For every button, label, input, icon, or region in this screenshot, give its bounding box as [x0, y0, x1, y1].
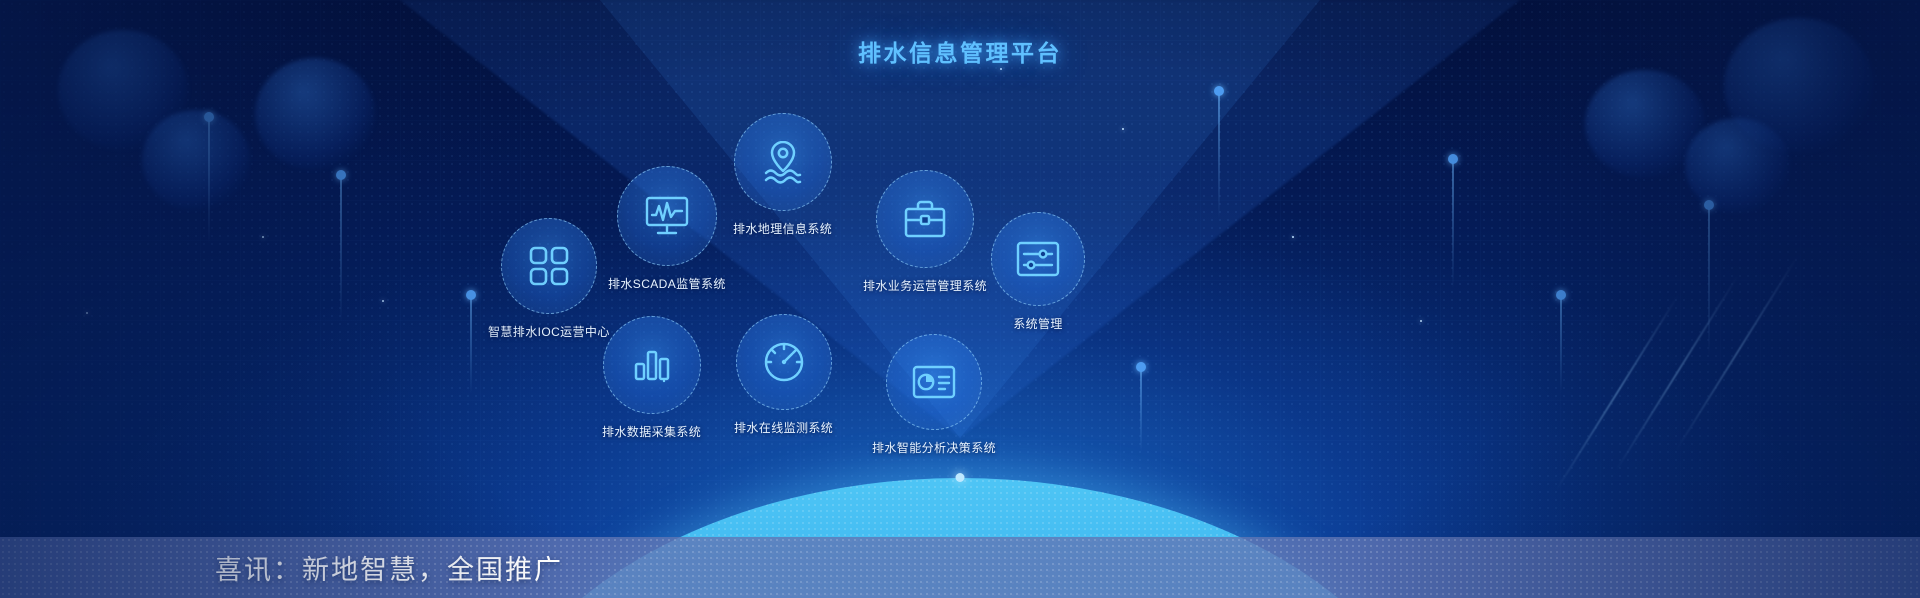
node-bubble[interactable]	[603, 316, 701, 414]
node-bubble[interactable]	[501, 218, 597, 314]
node-label: 系统管理	[1013, 315, 1063, 332]
node-online[interactable]: 排水在线监测系统	[734, 314, 833, 436]
node-bubble[interactable]	[886, 334, 982, 430]
node-ioc[interactable]: 智慧排水IOC运营中心	[488, 218, 610, 340]
node-label: 智慧排水IOC运营中心	[488, 323, 610, 340]
briefcase-icon	[902, 198, 948, 240]
node-bubble[interactable]	[991, 212, 1085, 306]
node-sys[interactable]: 系统管理	[991, 212, 1085, 332]
node-bubble[interactable]	[734, 113, 832, 211]
node-scada[interactable]: 排水SCADA监管系统	[608, 166, 726, 292]
node-data[interactable]: 排水数据采集系统	[602, 316, 701, 440]
map-pin-waves-icon	[762, 139, 804, 185]
node-bubble[interactable]	[736, 314, 832, 410]
node-bubble[interactable]	[876, 170, 974, 268]
news-banner[interactable]: 喜讯：新地智慧，全国推广	[0, 537, 1920, 598]
node-label: 排水SCADA监管系统	[608, 275, 726, 292]
node-biz[interactable]: 排水业务运营管理系统	[863, 170, 987, 294]
news-banner-text: 喜讯：新地智慧，全国推广	[215, 548, 563, 587]
bar-chart-icon	[631, 344, 673, 386]
node-ai[interactable]: 排水智能分析决策系统	[872, 334, 996, 456]
dome-beacon-dot	[956, 473, 965, 482]
node-label: 排水智能分析决策系统	[872, 439, 996, 456]
monitor-waveform-icon	[644, 195, 690, 237]
grid-squares-icon	[527, 244, 571, 288]
node-label: 排水在线监测系统	[734, 419, 833, 436]
node-gis[interactable]: 排水地理信息系统	[733, 113, 832, 237]
node-label: 排水数据采集系统	[602, 423, 701, 440]
node-label: 排水地理信息系统	[733, 220, 832, 237]
page-title: 排水信息管理平台	[0, 34, 1920, 68]
sliders-panel-icon	[1015, 240, 1061, 278]
gauge-icon	[762, 340, 806, 384]
node-label: 排水业务运营管理系统	[863, 277, 987, 294]
node-bubble[interactable]	[617, 166, 717, 266]
platform-landing-stage: 排水信息管理平台 智慧排水IOC运营中心	[0, 0, 1920, 598]
pie-list-card-icon	[911, 363, 957, 401]
